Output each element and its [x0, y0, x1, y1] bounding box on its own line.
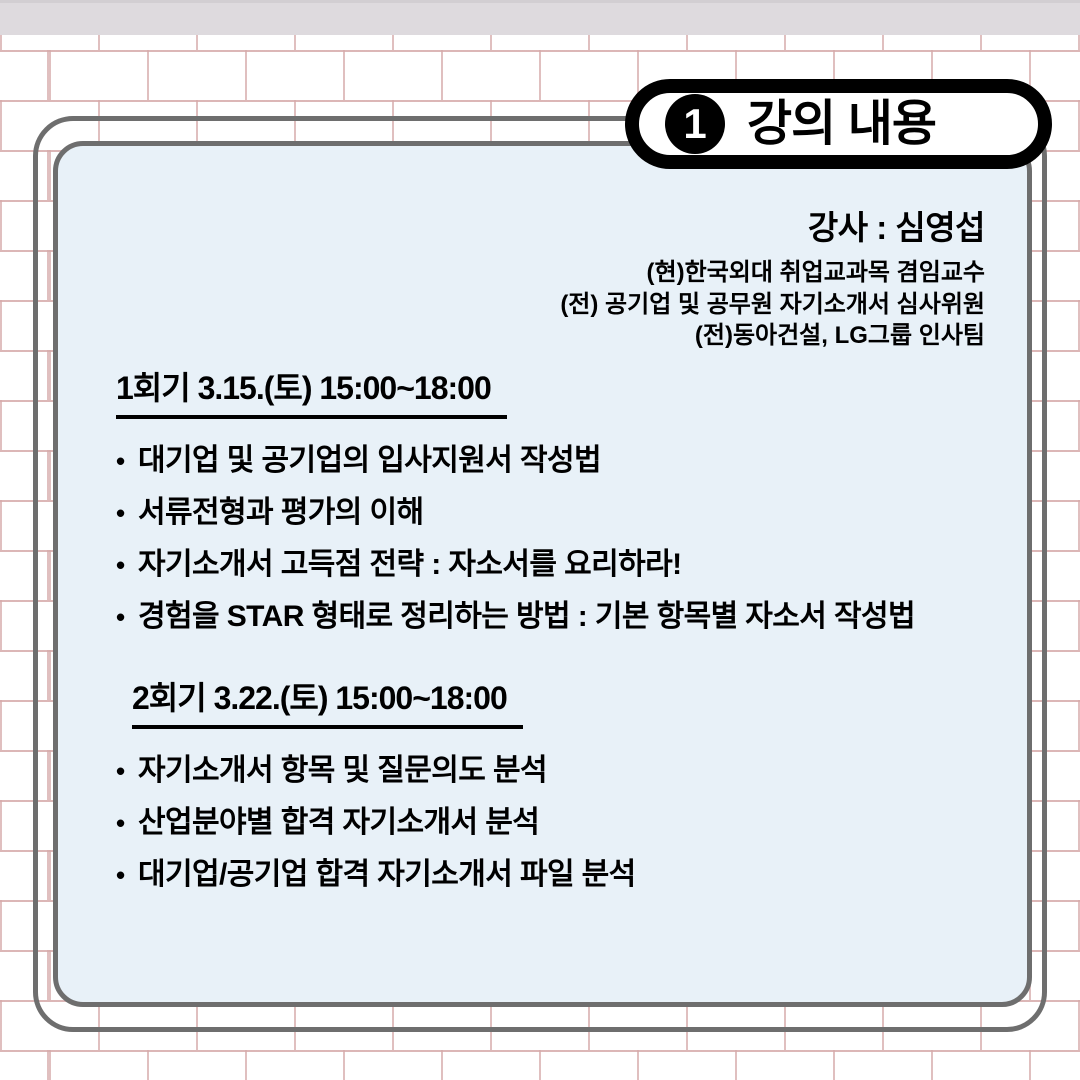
session-bullet-list: • 대기업 및 공기업의 입사지원서 작성법 • 서류전형과 평가의 이해 • … — [58, 446, 1027, 632]
section-title-badge: 1 강의 내용 — [625, 79, 1052, 169]
list-item: • 대기업/공기업 합격 자기소개서 파일 분석 — [116, 860, 1027, 890]
session-heading: 2회기 3.22.(토) 15:00~18:00 — [132, 681, 523, 729]
list-item: • 산업분야별 합격 자기소개서 분석 — [116, 808, 1027, 838]
bullet-dot-icon: • — [116, 448, 138, 474]
instructor-name: 강사 : 심영섭 — [560, 201, 985, 249]
session-heading: 1회기 3.15.(토) 15:00~18:00 — [116, 371, 507, 419]
session-bullet-list: • 자기소개서 항목 및 질문의도 분석 • 산업분야별 합격 자기소개서 분석… — [58, 756, 1027, 890]
instructor-credential: (현)한국외대 취업교과목 겸임교수 — [560, 257, 985, 289]
list-item-label: 자기소개서 항목 및 질문의도 분석 — [138, 756, 547, 786]
session-block-2: 2회기 3.22.(토) 15:00~18:00 • 자기소개서 항목 및 질문… — [58, 681, 1027, 912]
content-card: 강사 : 심영섭 (현)한국외대 취업교과목 겸임교수 (전) 공기업 및 공무… — [53, 141, 1032, 1007]
list-item-label: 경험을 STAR 형태로 정리하는 방법 : 기본 항목별 자소서 작성법 — [138, 602, 915, 632]
bullet-dot-icon: • — [116, 862, 138, 888]
list-item: • 경험을 STAR 형태로 정리하는 방법 : 기본 항목별 자소서 작성법 — [116, 602, 1027, 632]
list-item-label: 자기소개서 고득점 전략 : 자소서를 요리하라! — [138, 550, 681, 580]
list-item: • 자기소개서 항목 및 질문의도 분석 — [116, 756, 1027, 786]
bullet-dot-icon: • — [116, 552, 138, 578]
top-bar — [0, 0, 1080, 35]
instructor-credential: (전)동아건설, LG그룹 인사팀 — [560, 320, 985, 352]
list-item-label: 대기업 및 공기업의 입사지원서 작성법 — [138, 446, 601, 476]
list-item-label: 산업분야별 합격 자기소개서 분석 — [138, 808, 539, 838]
list-item-label: 대기업/공기업 합격 자기소개서 파일 분석 — [138, 860, 636, 890]
instructor-credential: (전) 공기업 및 공무원 자기소개서 심사위원 — [560, 289, 985, 321]
bullet-dot-icon: • — [116, 500, 138, 526]
section-title-label: 강의 내용 — [747, 100, 936, 149]
bullet-dot-icon: • — [116, 758, 138, 784]
brick-row — [0, 1050, 1080, 1080]
session-block-1: 1회기 3.15.(토) 15:00~18:00 • 대기업 및 공기업의 입사… — [58, 371, 1027, 654]
section-number-icon: 1 — [665, 94, 725, 154]
bullet-dot-icon: • — [116, 604, 138, 630]
instructor-block: 강사 : 심영섭 (현)한국외대 취업교과목 겸임교수 (전) 공기업 및 공무… — [560, 201, 985, 352]
bullet-dot-icon: • — [116, 810, 138, 836]
list-item-label: 서류전형과 평가의 이해 — [138, 498, 423, 528]
poster-canvas: 강사 : 심영섭 (현)한국외대 취업교과목 겸임교수 (전) 공기업 및 공무… — [0, 0, 1080, 1080]
list-item: • 대기업 및 공기업의 입사지원서 작성법 — [116, 446, 1027, 476]
list-item: • 자기소개서 고득점 전략 : 자소서를 요리하라! — [116, 550, 1027, 580]
list-item: • 서류전형과 평가의 이해 — [116, 498, 1027, 528]
